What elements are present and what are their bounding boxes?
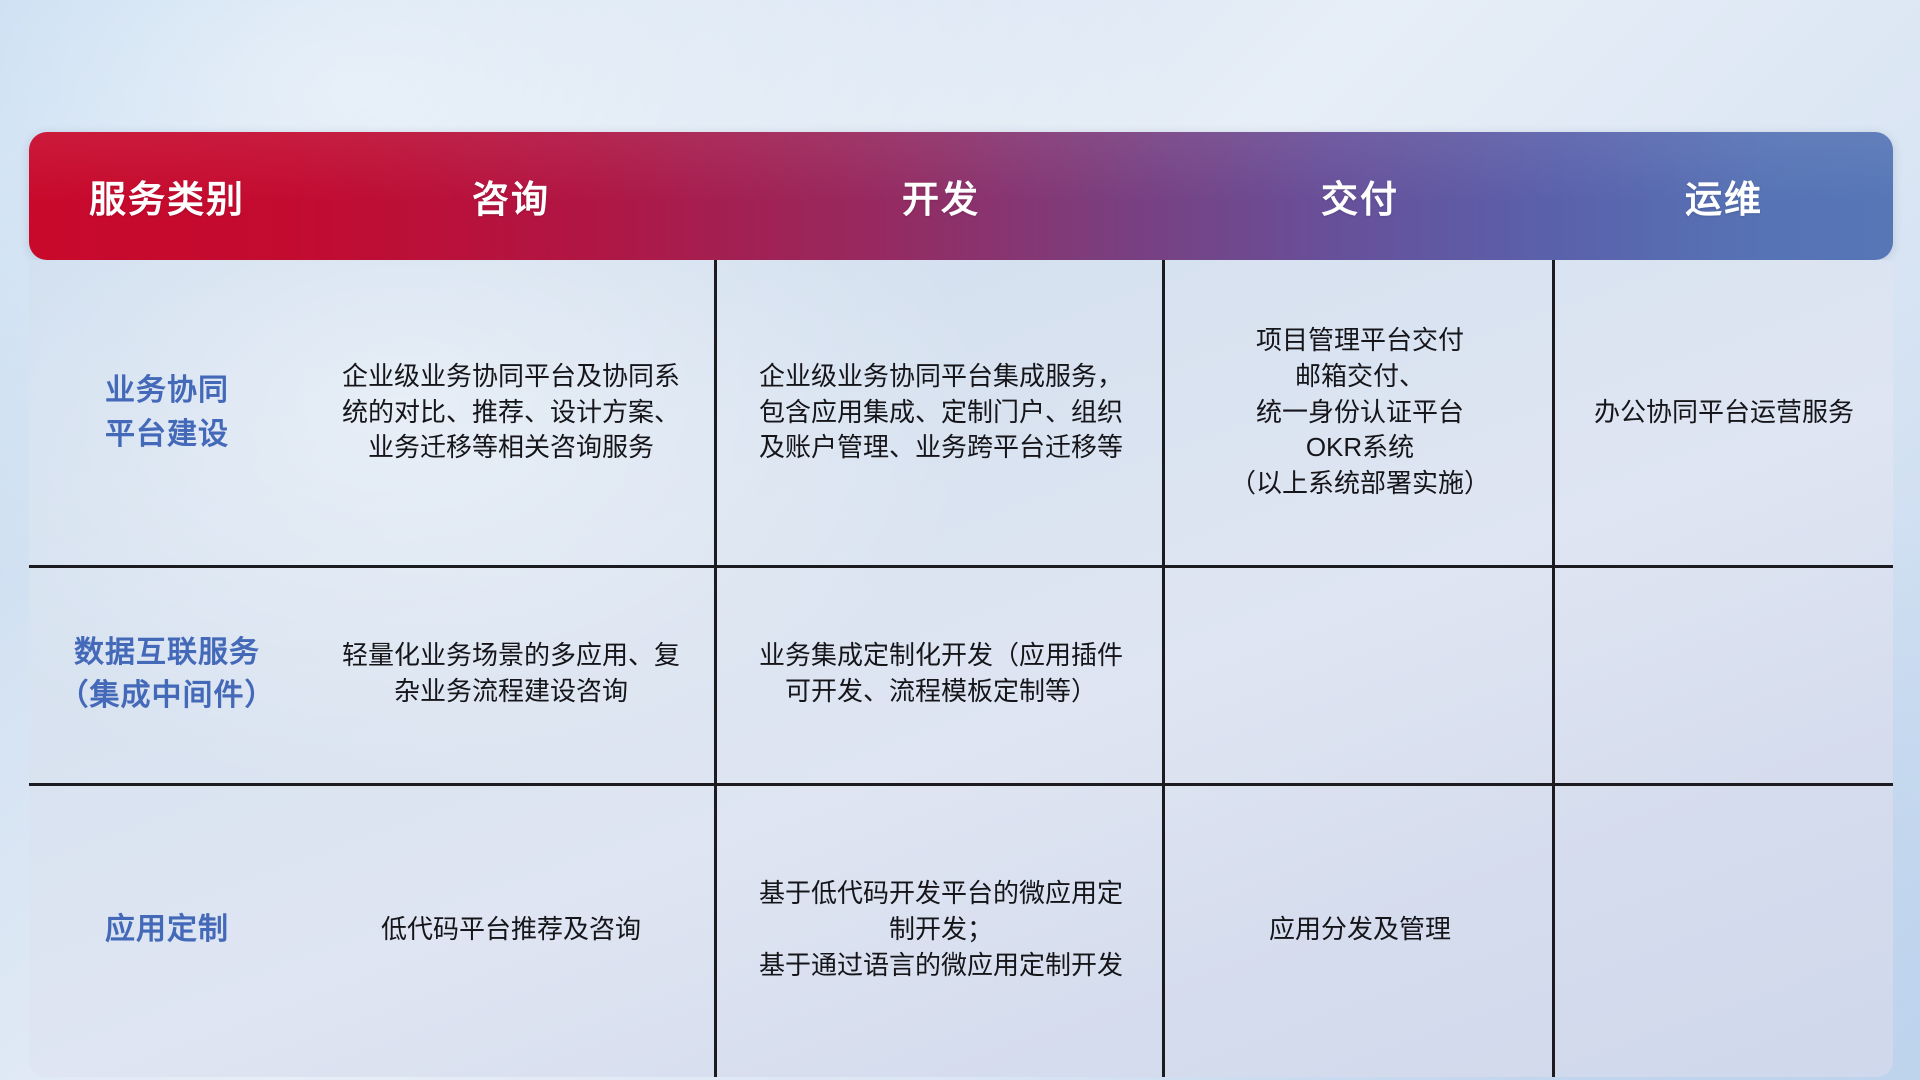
column-header-delivery: 交付 <box>1165 132 1555 260</box>
cell-delivery: 应用分发及管理 <box>1165 783 1555 1077</box>
table-header-row: 服务类别 咨询 开发 交付 运维 <box>29 132 1893 260</box>
table-row: 数据互联服务 （集成中间件） 轻量化业务场景的多应用、复 杂业务流程建设咨询 业… <box>29 565 1893 783</box>
cell-development: 业务集成定制化开发（应用插件 可开发、流程模板定制等） <box>717 565 1165 783</box>
row-category-label: 数据互联服务 （集成中间件） <box>29 565 305 783</box>
table-row: 业务协同 平台建设 企业级业务协同平台及协同系 统的对比、推荐、设计方案、 业务… <box>29 260 1893 565</box>
cell-development: 企业级业务协同平台集成服务， 包含应用集成、定制门户、组织 及账户管理、业务跨平… <box>717 260 1165 565</box>
column-header-service-category: 服务类别 <box>29 132 305 260</box>
service-matrix-table: 服务类别 咨询 开发 交付 运维 业务协同 平台建设 企业级业务协同平台及协同系… <box>29 132 1893 1077</box>
column-header-consulting: 咨询 <box>305 132 717 260</box>
cell-delivery: 项目管理平台交付 邮箱交付、 统一身份认证平台 OKR系统 （以上系统部署实施） <box>1165 260 1555 565</box>
column-header-operations: 运维 <box>1555 132 1893 260</box>
row-category-label: 应用定制 <box>29 783 305 1077</box>
cell-consulting: 轻量化业务场景的多应用、复 杂业务流程建设咨询 <box>305 565 717 783</box>
cell-operations <box>1555 783 1893 1077</box>
column-header-development: 开发 <box>717 132 1165 260</box>
cell-delivery <box>1165 565 1555 783</box>
table-row: 应用定制 低代码平台推荐及咨询 基于低代码开发平台的微应用定 制开发； 基于通过… <box>29 783 1893 1077</box>
table-body: 业务协同 平台建设 企业级业务协同平台及协同系 统的对比、推荐、设计方案、 业务… <box>29 260 1893 1077</box>
cell-operations <box>1555 565 1893 783</box>
row-category-label: 业务协同 平台建设 <box>29 260 305 565</box>
cell-development: 基于低代码开发平台的微应用定 制开发； 基于通过语言的微应用定制开发 <box>717 783 1165 1077</box>
cell-consulting: 企业级业务协同平台及协同系 统的对比、推荐、设计方案、 业务迁移等相关咨询服务 <box>305 260 717 565</box>
slide-canvas: 服务类别 咨询 开发 交付 运维 业务协同 平台建设 企业级业务协同平台及协同系… <box>0 0 1920 1080</box>
cell-consulting: 低代码平台推荐及咨询 <box>305 783 717 1077</box>
cell-operations: 办公协同平台运营服务 <box>1555 260 1893 565</box>
